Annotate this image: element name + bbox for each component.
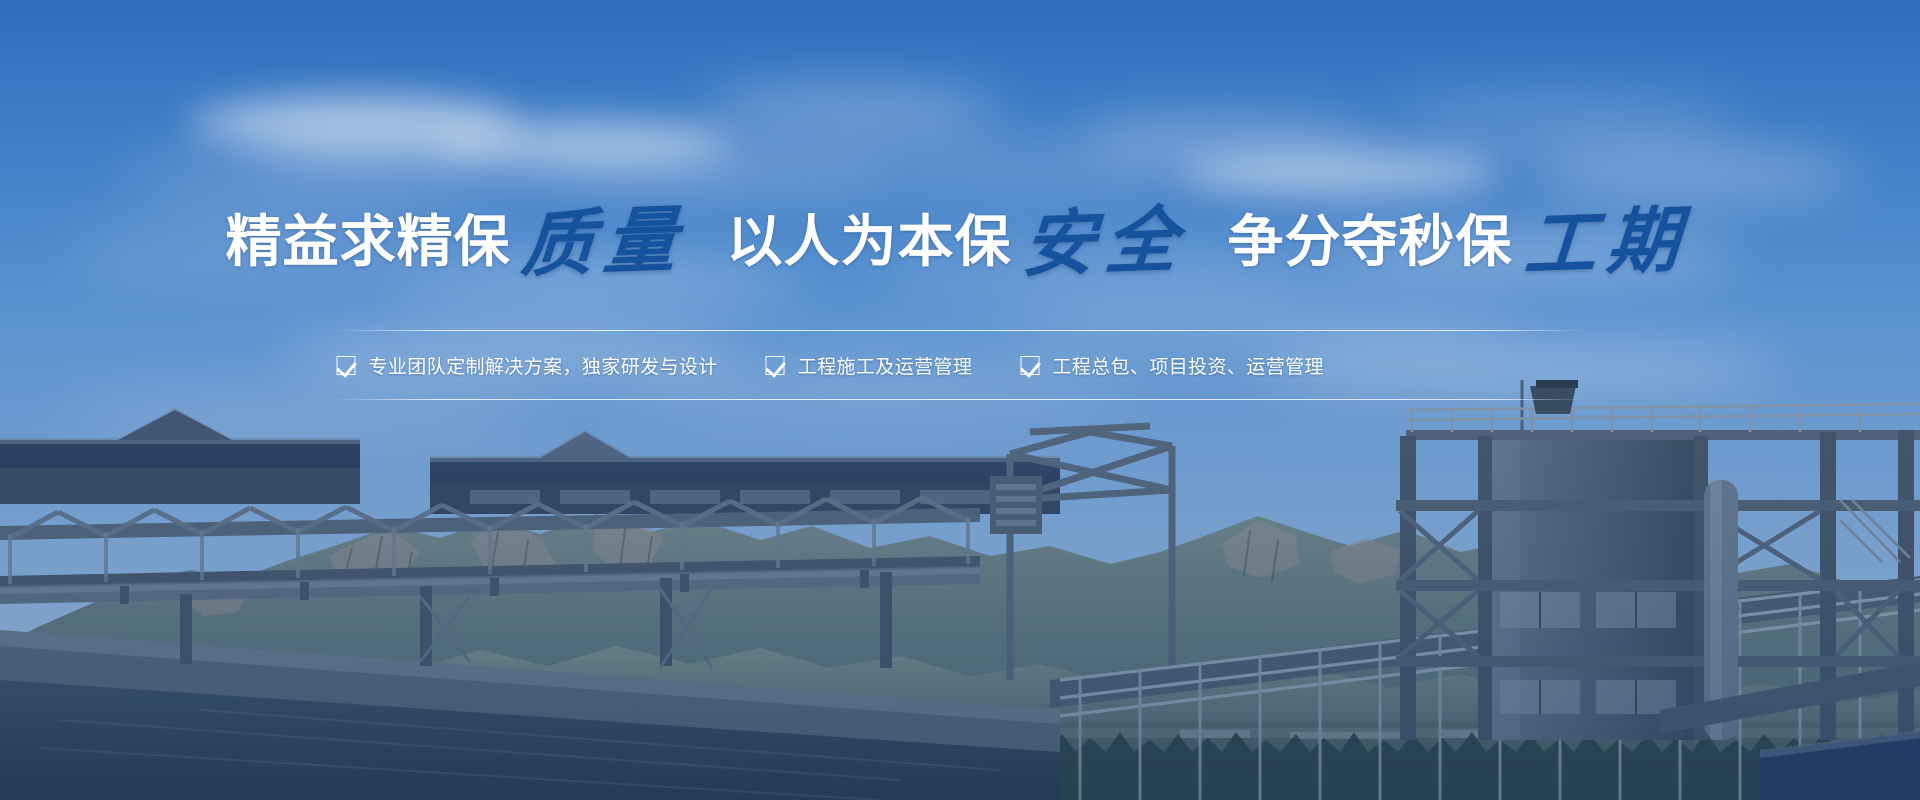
industrial-plant-foreground (0, 380, 1920, 800)
headline-segment-1: 精益求精保 质量 (225, 206, 692, 278)
feature-label-3: 工程总包、项目投资、运营管理 (1052, 352, 1324, 379)
divider-bottom (333, 399, 1588, 400)
checkbox-checked-icon (337, 356, 356, 375)
feature-list: 专业团队定制解决方案，独家研发与设计 工程施工及运营管理 工程总包、项目投资、运… (333, 330, 1588, 400)
headline-script-1: 质量 (520, 203, 690, 281)
checkbox-checked-icon (766, 356, 785, 375)
headline: 精益求精保 质量 以人为本保 安全 争分夺秒保 工期 (0, 196, 1920, 288)
hero-banner: 精益求精保 质量 以人为本保 安全 争分夺秒保 工期 专业团队定制解决方案，独家… (0, 0, 1920, 800)
headline-plain-1: 精益求精保 (225, 214, 510, 270)
headline-plain-2: 以人为本保 (726, 214, 1011, 270)
feature-label-1: 专业团队定制解决方案，独家研发与设计 (369, 352, 718, 379)
feature-item-2[interactable]: 工程施工及运营管理 (766, 352, 973, 379)
headline-script-2: 安全 (1021, 203, 1191, 281)
headline-plain-3: 争分夺秒保 (1228, 214, 1513, 270)
headline-script-3: 工期 (1522, 203, 1692, 281)
feature-row: 专业团队定制解决方案，独家研发与设计 工程施工及运营管理 工程总包、项目投资、运… (333, 331, 1588, 399)
feature-item-3[interactable]: 工程总包、项目投资、运营管理 (1020, 352, 1324, 379)
headline-segment-2: 以人为本保 安全 (726, 206, 1193, 278)
headline-segment-3: 争分夺秒保 工期 (1228, 206, 1695, 278)
feature-item-1[interactable]: 专业团队定制解决方案，独家研发与设计 (337, 352, 718, 379)
feature-label-2: 工程施工及运营管理 (798, 352, 973, 379)
checkbox-checked-icon (1020, 356, 1039, 375)
